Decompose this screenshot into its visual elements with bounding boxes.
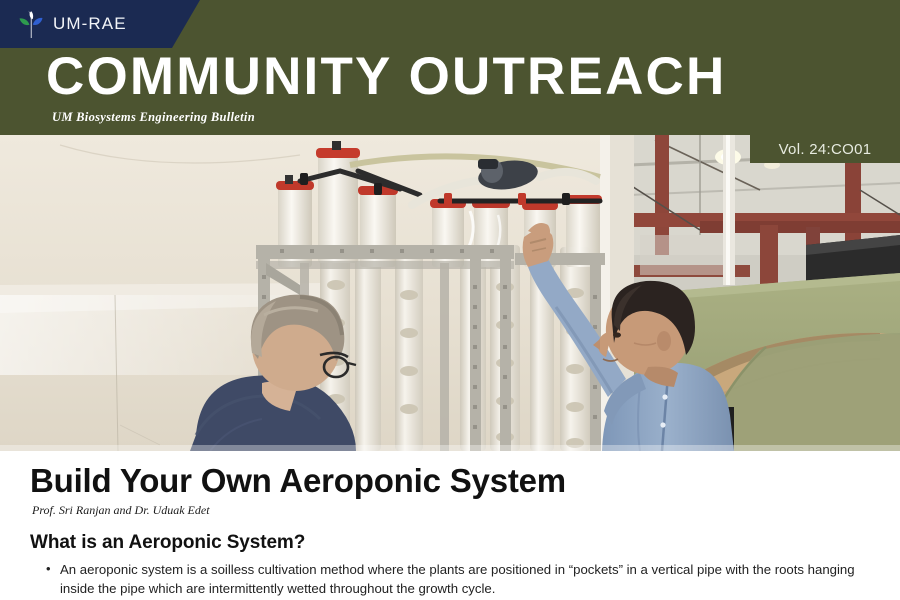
masthead: COMMUNITY OUTREACH UM Biosystems Enginee… xyxy=(46,50,727,125)
volume-label: Vol. 24:CO01 xyxy=(779,141,872,158)
newsletter-page: UM-RAE COMMUNITY OUTREACH UM Biosystems … xyxy=(0,0,900,600)
sprout-leaf-icon xyxy=(17,9,45,39)
logo-banner[interactable]: UM-RAE xyxy=(0,0,200,48)
page-title: Build Your Own Aeroponic System xyxy=(30,463,870,499)
volume-badge: Vol. 24:CO01 xyxy=(750,135,900,163)
page-header: UM-RAE COMMUNITY OUTREACH UM Biosystems … xyxy=(0,0,900,136)
byline: Prof. Sri Ranjan and Dr. Uduak Edet xyxy=(32,503,870,518)
section-heading: What is an Aeroponic System? xyxy=(30,532,870,554)
logo-text: UM-RAE xyxy=(53,14,127,34)
hero-photo-illustration xyxy=(0,135,900,451)
masthead-subtitle: UM Biosystems Engineering Bulletin xyxy=(52,110,727,125)
bullet-list: An aeroponic system is a soilless cultiv… xyxy=(30,560,870,598)
article-body: Build Your Own Aeroponic System Prof. Sr… xyxy=(0,451,900,600)
hero-photo xyxy=(0,135,900,451)
list-item: An aeroponic system is a soilless cultiv… xyxy=(60,560,870,598)
masthead-title: COMMUNITY OUTREACH xyxy=(46,50,727,103)
